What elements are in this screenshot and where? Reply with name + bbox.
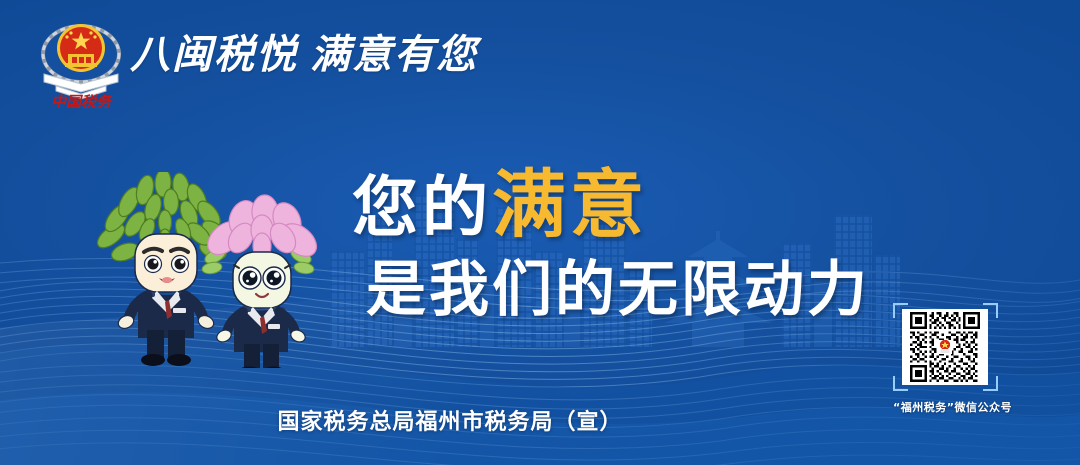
slogan-line-1: 您的满意	[352, 168, 912, 242]
slogan-highlight: 满意	[492, 162, 648, 248]
tax-bureau-promotional-banner: 中国税务 八闽税悦 满意有您	[0, 0, 1080, 465]
mascot-characters	[95, 172, 345, 368]
china-taxation-emblem-icon: 中国税务	[34, 12, 128, 108]
qr-frame	[893, 303, 998, 391]
main-slogan: 您的满意 是我们的无限动力	[352, 168, 912, 320]
slogan-line1-prefix: 您的	[352, 169, 492, 246]
slogan-line-2: 是我们的无限动力	[366, 260, 912, 320]
qr-caption: “福州税务”微信公众号	[893, 399, 998, 415]
qr-code-block: “福州税务”微信公众号	[893, 303, 998, 415]
header-slogan-text: 八闽税悦 满意有您	[130, 22, 478, 80]
banner-header: 中国税务 八闽税悦 满意有您	[0, 0, 1080, 112]
svg-text:中国税务: 中国税务	[51, 94, 113, 108]
wechat-qr-code-icon[interactable]	[902, 309, 988, 385]
